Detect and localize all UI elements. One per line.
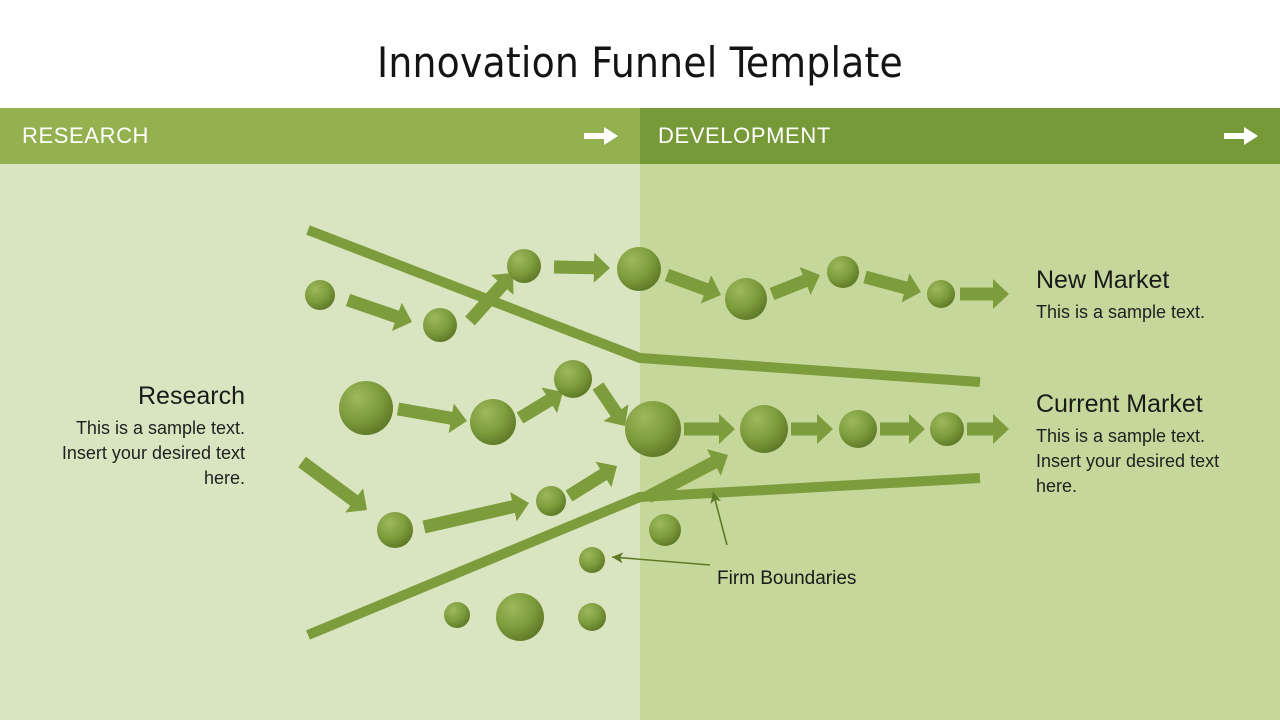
lower-boundary: [308, 478, 980, 635]
idea-circle-9: [554, 360, 592, 398]
text-block-research: Research This is a sample text. Insert y…: [40, 382, 245, 491]
research-heading: Research: [40, 382, 245, 410]
slide-canvas: Innovation Funnel Template RESEARCH DEVE…: [0, 0, 1280, 720]
idea-circle-15: [536, 486, 566, 516]
idea-circle-1: [423, 308, 457, 342]
idea-circle-6: [927, 280, 955, 308]
idea-circle-10: [625, 401, 681, 457]
flow-arrow-6: [960, 279, 1009, 309]
leader-line-0: [612, 557, 710, 565]
idea-circle-17: [579, 547, 605, 573]
new-market-body: This is a sample text.: [1036, 300, 1246, 325]
flow-arrow-0: [343, 286, 417, 336]
flow-arrow-4: [766, 261, 825, 308]
flow-arrow-2: [554, 252, 611, 283]
idea-circle-19: [496, 593, 544, 641]
idea-circle-7: [339, 381, 393, 435]
research-body: This is a sample text. Insert your desir…: [40, 416, 245, 491]
flow-arrow-14: [421, 488, 533, 541]
idea-circle-0: [305, 280, 335, 310]
idea-circle-14: [377, 512, 413, 548]
idea-circles: [305, 247, 964, 641]
text-block-current-market: Current Market This is a sample text. In…: [1036, 390, 1251, 499]
idea-circle-16: [649, 514, 681, 546]
flow-arrow-3: [662, 261, 726, 309]
idea-circle-12: [839, 410, 877, 448]
idea-circle-18: [444, 602, 470, 628]
flow-arrows: [293, 252, 1009, 542]
flow-arrow-11: [791, 414, 833, 444]
innovation-funnel-diagram: [0, 0, 1280, 720]
idea-circle-20: [578, 603, 606, 631]
flow-arrow-5: [861, 263, 925, 307]
flow-arrow-15: [561, 453, 625, 508]
text-block-new-market: New Market This is a sample text.: [1036, 266, 1246, 325]
idea-circle-5: [827, 256, 859, 288]
flow-arrow-10: [684, 414, 735, 444]
current-market-heading: Current Market: [1036, 390, 1251, 418]
flow-arrow-7: [395, 394, 469, 436]
leader-line-1: [713, 492, 727, 545]
leader-to-circle: [612, 552, 711, 571]
firm-boundaries-label: Firm Boundaries: [717, 568, 856, 590]
idea-circle-2: [507, 249, 541, 283]
flow-arrow-16: [293, 450, 376, 522]
idea-circle-4: [725, 278, 767, 320]
idea-circle-8: [470, 399, 516, 445]
flow-arrow-13: [967, 414, 1009, 444]
idea-circle-11: [740, 405, 788, 453]
idea-circle-3: [617, 247, 661, 291]
new-market-heading: New Market: [1036, 266, 1246, 294]
idea-circle-13: [930, 412, 964, 446]
flow-arrow-12: [880, 414, 925, 444]
leader-to-boundary: [708, 491, 733, 547]
current-market-body: This is a sample text. Insert your desir…: [1036, 424, 1251, 499]
